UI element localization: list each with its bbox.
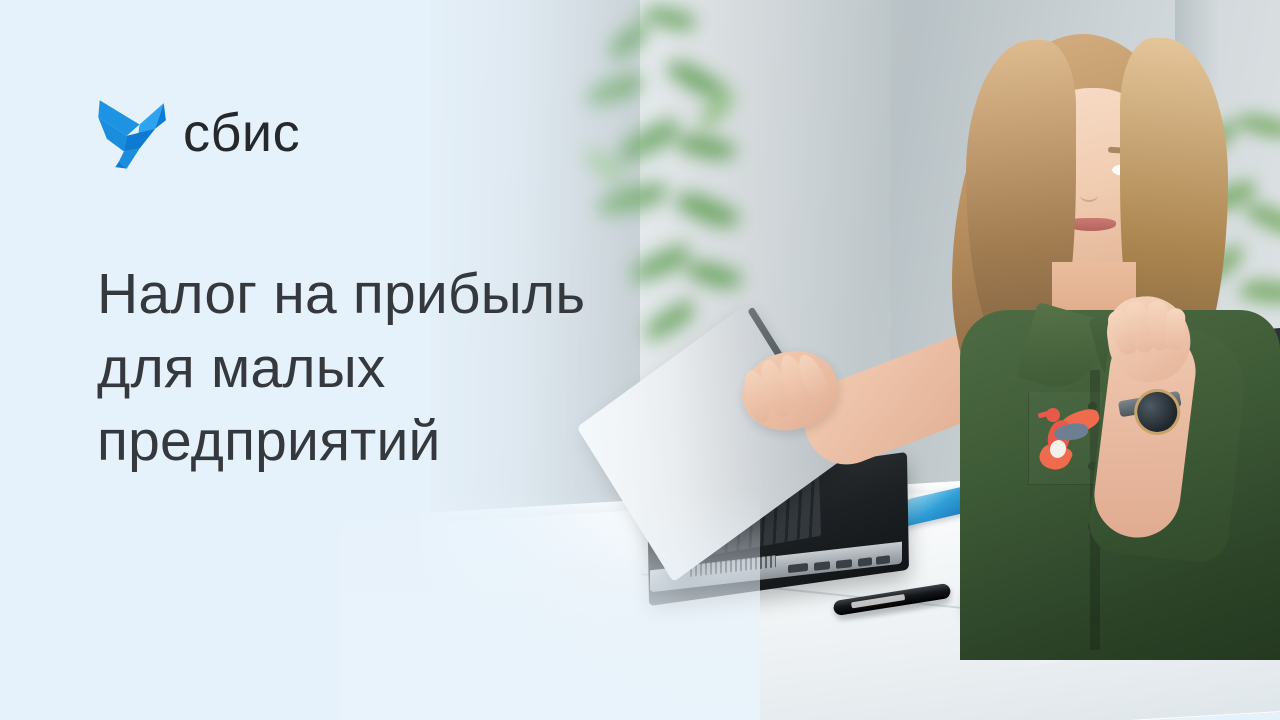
pen-brand-label: [851, 594, 905, 608]
sbis-bird-logo-icon: [95, 96, 167, 170]
wristwatch-icon: [1115, 377, 1186, 445]
red-bird-embroidery-icon: [1034, 396, 1104, 476]
nose: [1080, 188, 1098, 202]
laptop-port-usb-2: [876, 555, 890, 565]
page-title: Налог на прибыль для малых предприятий: [97, 258, 797, 479]
person: [930, 10, 1280, 650]
page-title-line-3: предприятий: [97, 405, 797, 479]
brand-logo[interactable]: сбис: [95, 96, 300, 170]
page-title-line-2: для малых: [97, 332, 797, 406]
title-card: сбис Налог на прибыль для малых предприя…: [0, 0, 1280, 720]
page-title-line-1: Налог на прибыль: [97, 258, 797, 332]
brand-wordmark: сбис: [183, 106, 300, 160]
laptop-port-usb-1: [858, 557, 872, 567]
